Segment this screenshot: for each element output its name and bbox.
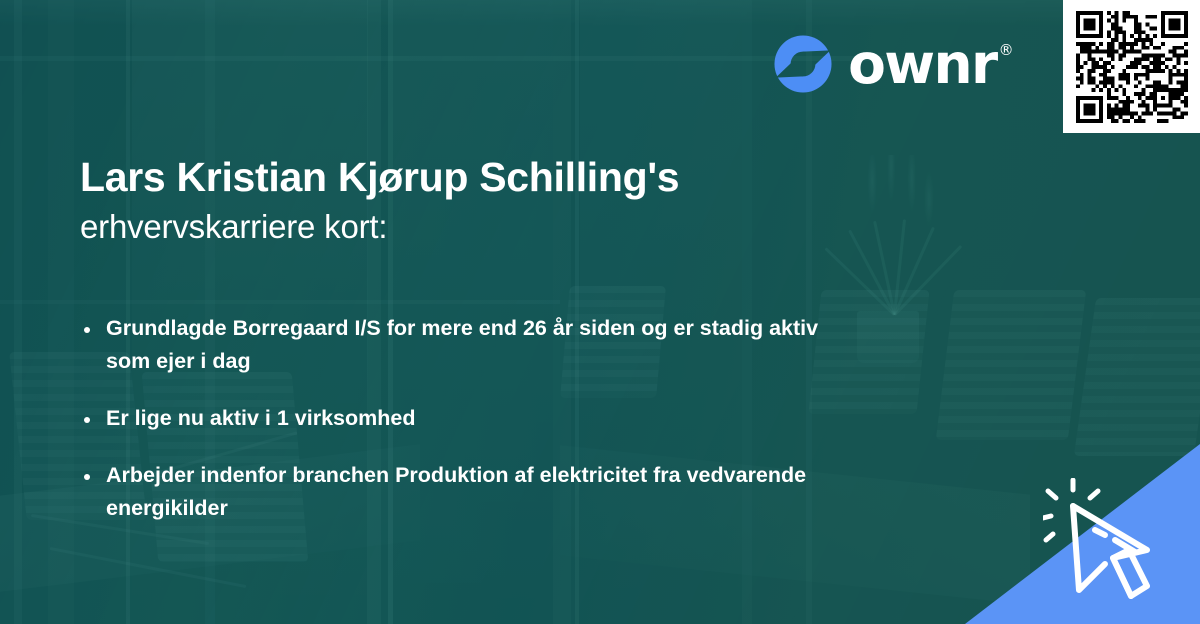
bullet-dot-icon: [84, 327, 90, 333]
list-item-label: Er lige nu aktiv i 1 virksomhed: [106, 406, 415, 430]
list-item-label: Arbejder indenfor branchen Produktion af…: [106, 463, 806, 520]
registered-trademark-icon: ®: [999, 43, 1012, 58]
headline-line-2: erhvervskarriere kort:: [80, 207, 860, 247]
list-item: Grundlagde Borregaard I/S for mere end 2…: [80, 312, 840, 378]
ownr-wordmark: ownr ®: [848, 37, 1012, 92]
ownr-circle-swoosh-icon: [772, 33, 834, 95]
bullet-dot-icon: [84, 474, 90, 480]
brand-name-text: ownr: [848, 37, 996, 92]
career-summary-card: ownr ® Lars Kristian Kjørup Schilling's …: [0, 0, 1200, 624]
list-item: Er lige nu aktiv i 1 virksomhed: [80, 402, 840, 435]
bullet-dot-icon: [84, 417, 90, 423]
qr-code-panel[interactable]: [1063, 0, 1200, 133]
page-title: Lars Kristian Kjørup Schilling's erhverv…: [80, 154, 860, 247]
career-facts-list: Grundlagde Borregaard I/S for mere end 2…: [80, 312, 840, 524]
headline-line-1: Lars Kristian Kjørup Schilling's: [80, 154, 860, 201]
ownr-logo: ownr ®: [772, 33, 1012, 95]
list-item: Arbejder indenfor branchen Produktion af…: [80, 459, 840, 525]
qr-code-icon[interactable]: [1076, 11, 1188, 123]
list-item-label: Grundlagde Borregaard I/S for mere end 2…: [106, 316, 818, 373]
